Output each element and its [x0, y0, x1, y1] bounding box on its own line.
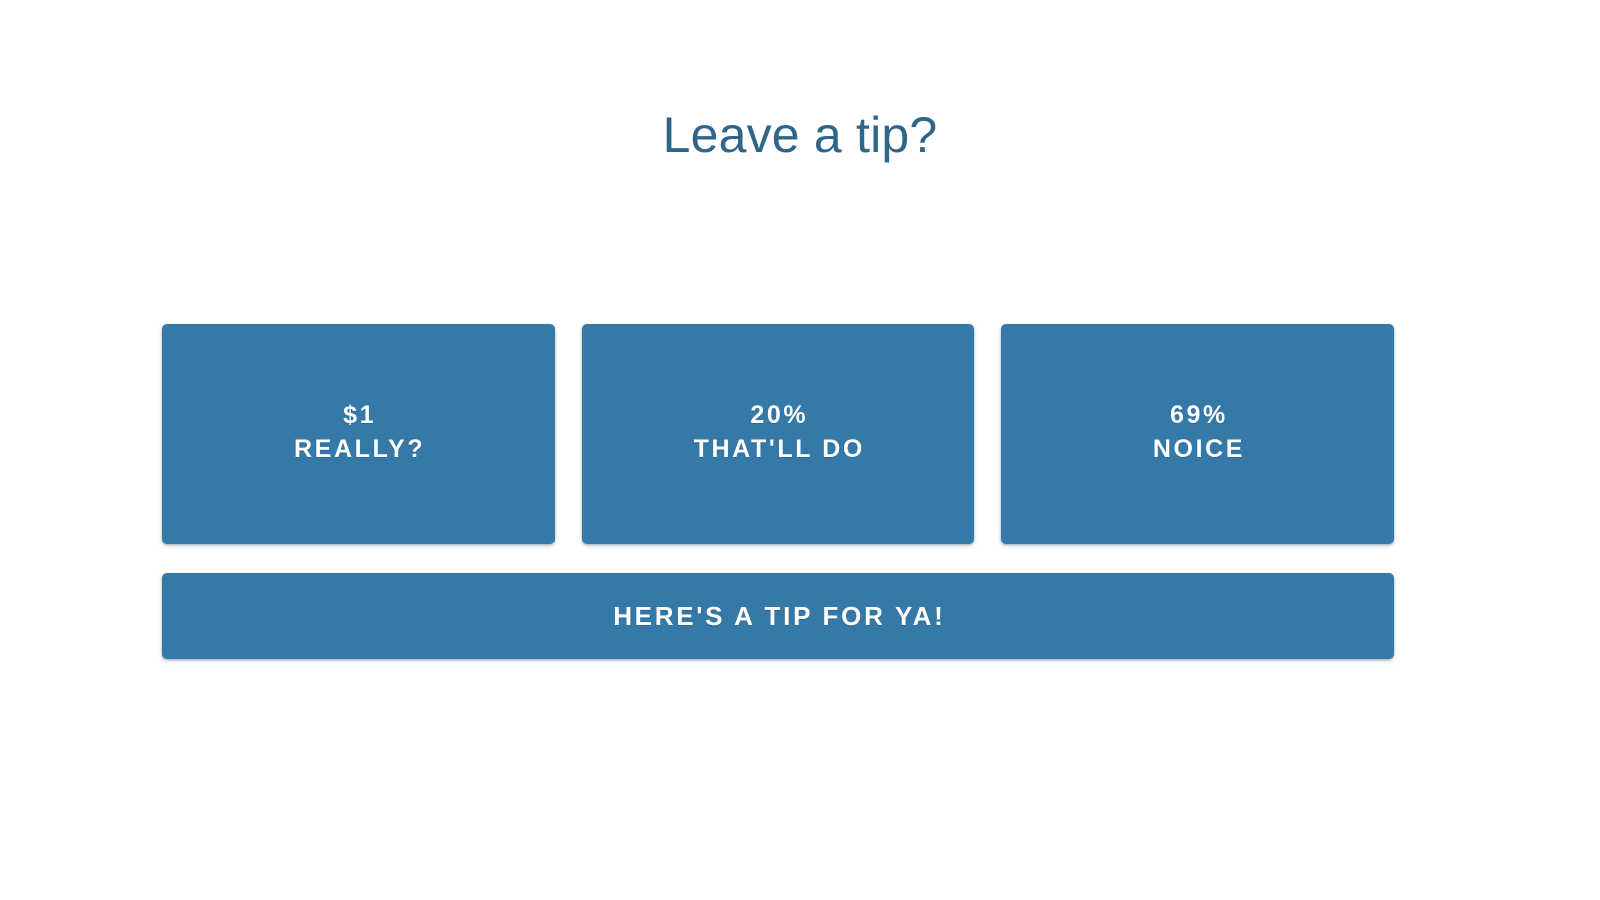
tip-option-3[interactable]: 69% NOICE: [1001, 324, 1394, 544]
page-title: Leave a tip?: [0, 104, 1600, 166]
tip-option-amount: 69%: [1167, 400, 1227, 430]
tip-screen: Leave a tip? $1 REALLY? 20% THAT'LL DO 6…: [0, 0, 1600, 900]
tip-option-caption: NOICE: [1150, 430, 1245, 468]
submit-tip-label: HERE'S A TIP FOR YA!: [611, 601, 946, 632]
tip-option-caption: REALLY?: [291, 430, 425, 468]
tip-option-caption: THAT'LL DO: [691, 430, 865, 468]
tip-option-1[interactable]: $1 REALLY?: [162, 324, 555, 544]
submit-tip-button[interactable]: HERE'S A TIP FOR YA!: [162, 573, 1394, 659]
tip-options-row: $1 REALLY? 20% THAT'LL DO 69% NOICE: [162, 324, 1394, 544]
tip-option-amount: $1: [341, 400, 377, 430]
tip-option-amount: 20%: [748, 400, 808, 430]
tip-option-2[interactable]: 20% THAT'LL DO: [582, 324, 975, 544]
